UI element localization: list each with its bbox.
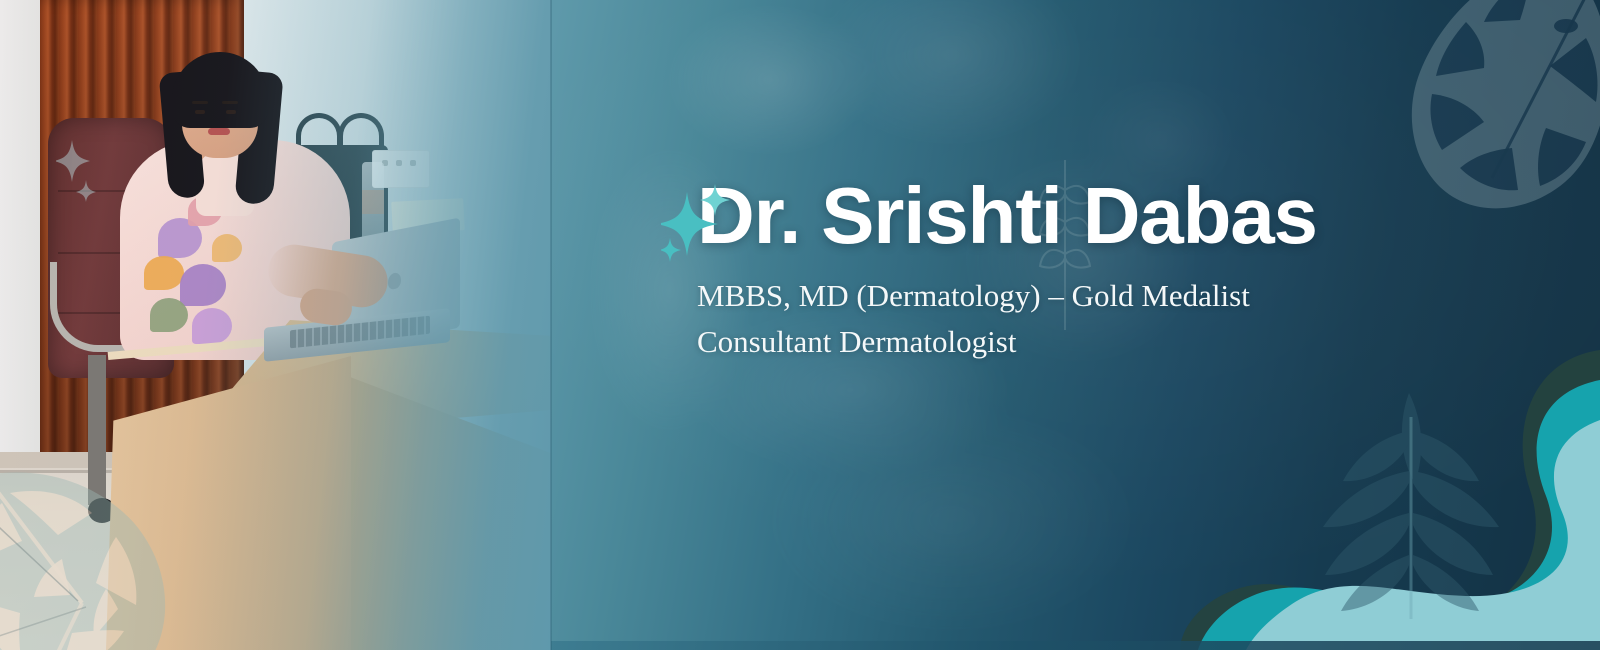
credentials-line-2: Consultant Dermatologist [697, 320, 1457, 364]
monstera-leaf-icon [0, 471, 196, 650]
fern-leaf-icon [1305, 387, 1505, 622]
panel-divider [550, 0, 552, 650]
page-title: Dr. Srishti Dabas [697, 176, 1457, 256]
sparkle-icon [661, 182, 733, 266]
hero-text-block: Dr. Srishti Dabas MBBS, MD (Dermatology)… [697, 176, 1457, 364]
doctor-hero-banner: Dr. Srishti Dabas MBBS, MD (Dermatology)… [0, 0, 1600, 650]
credentials-line-1: MBBS, MD (Dermatology) – Gold Medalist [697, 274, 1457, 318]
